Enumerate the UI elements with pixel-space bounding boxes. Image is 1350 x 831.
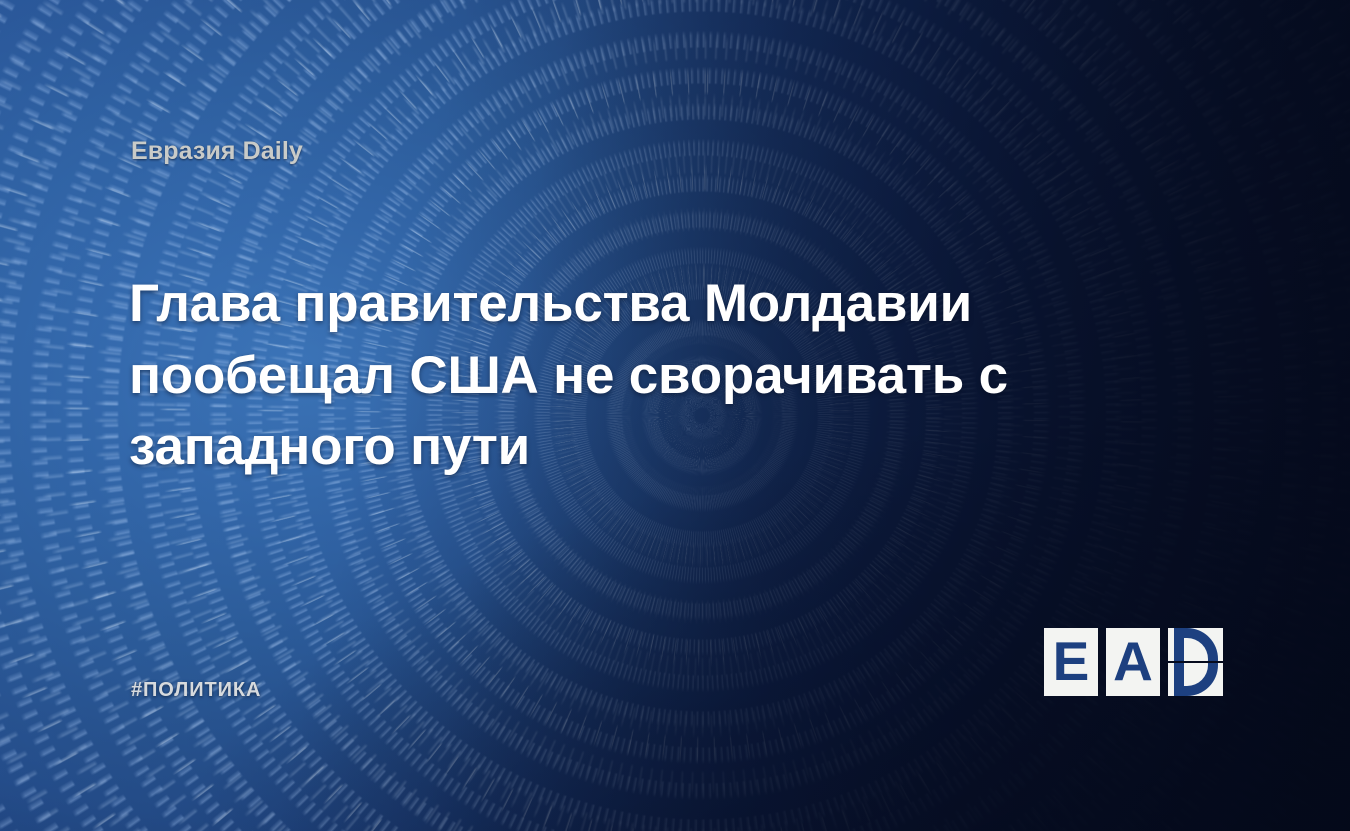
brand-wordmark: Евразия Daily [131, 137, 303, 166]
eadaily-logo[interactable]: E A [1044, 628, 1223, 696]
logo-d-bottom-half [1168, 663, 1223, 696]
page-title: Глава правительства Молдавии пообещал СШ… [129, 268, 1029, 483]
logo-tile-e: E [1044, 628, 1098, 696]
card-content: Евразия Daily Глава правительства Молдав… [0, 0, 1350, 831]
news-share-card: Евразия Daily Глава правительства Молдав… [0, 0, 1350, 831]
logo-d-stem-bottom [1174, 663, 1184, 696]
category-tag: #ПОЛИТИКА [131, 679, 261, 702]
logo-letter-e: E [1053, 634, 1090, 689]
logo-letter-a: A [1113, 634, 1153, 689]
logo-d-stem-top [1174, 628, 1184, 661]
logo-d-top-half [1168, 628, 1223, 661]
logo-tile-a: A [1106, 628, 1160, 696]
logo-tile-d [1168, 628, 1223, 696]
